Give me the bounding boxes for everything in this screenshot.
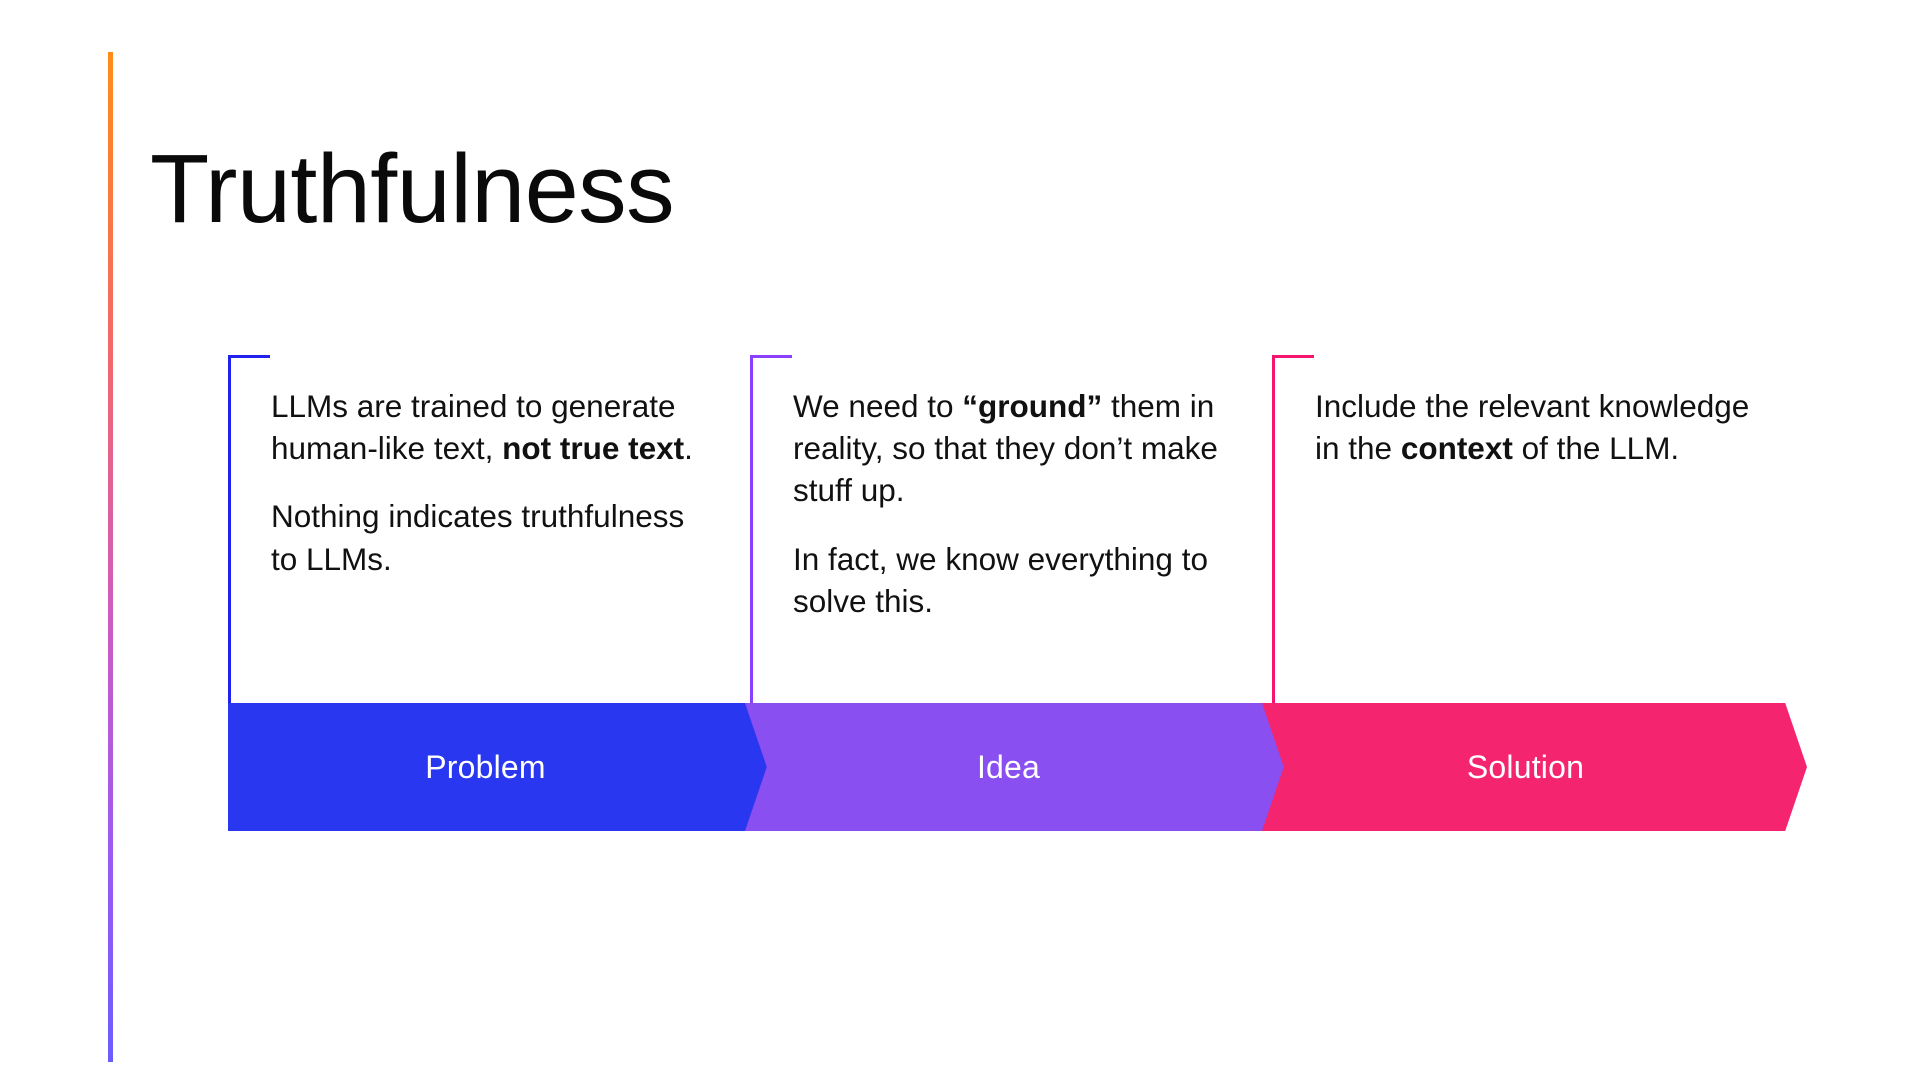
column-body-problem: LLMs are trained to generate human-like … (271, 385, 711, 580)
body-text: Nothing indicates truthfulness to LLMs. (271, 498, 684, 576)
paragraph-problem-1: LLMs are trained to generate human-like … (271, 385, 711, 469)
paragraph-problem-2: Nothing indicates truthfulness to LLMs. (271, 495, 711, 579)
column-body-solution: Include the relevant knowledge in the co… (1315, 385, 1755, 469)
bracket-stem-idea (750, 355, 753, 705)
column-idea: We need to “ground” them in reality, so … (750, 355, 1250, 705)
bracket-arm-idea (750, 355, 792, 358)
bracket-stem-problem (228, 355, 231, 705)
paragraph-idea-1: We need to “ground” them in reality, so … (793, 385, 1233, 512)
chevron-idea[interactable]: Idea (745, 703, 1290, 831)
slide-canvas: Truthfulness LLMs are trained to generat… (0, 0, 1920, 1080)
chevron-problem[interactable]: Problem (228, 703, 773, 831)
chevron-solution[interactable]: Solution (1262, 703, 1807, 831)
column-group: LLMs are trained to generate human-like … (0, 355, 1920, 705)
column-body-idea: We need to “ground” them in reality, so … (793, 385, 1233, 622)
chevron-label-idea: Idea (977, 749, 1040, 786)
paragraph-idea-2: In fact, we know everything to solve thi… (793, 538, 1233, 622)
body-text: . (684, 430, 693, 466)
bracket-arm-problem (228, 355, 270, 358)
emphasis-text: “ground” (962, 388, 1102, 424)
bracket-stem-solution (1272, 355, 1275, 705)
emphasis-text: not true text (502, 430, 684, 466)
process-chevron-band: Problem Idea Solution (0, 703, 1920, 831)
body-text: In fact, we know everything to solve thi… (793, 541, 1208, 619)
column-problem: LLMs are trained to generate human-like … (228, 355, 728, 705)
bracket-arm-solution (1272, 355, 1314, 358)
body-text: We need to (793, 388, 962, 424)
body-text: of the LLM. (1513, 430, 1679, 466)
paragraph-solution-1: Include the relevant knowledge in the co… (1315, 385, 1755, 469)
column-solution: Include the relevant knowledge in the co… (1272, 355, 1772, 705)
page-title: Truthfulness (150, 137, 674, 242)
emphasis-text: context (1401, 430, 1513, 466)
chevron-label-solution: Solution (1467, 749, 1584, 786)
chevron-label-problem: Problem (425, 749, 546, 786)
